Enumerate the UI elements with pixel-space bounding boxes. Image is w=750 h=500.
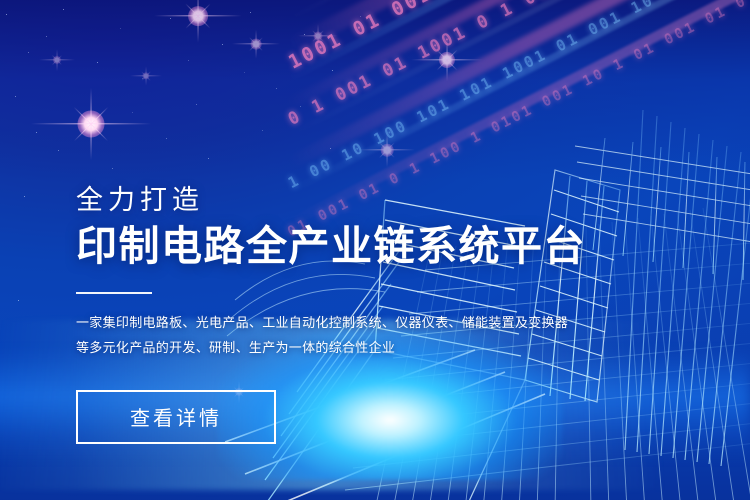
divider-rule (76, 292, 152, 294)
star-dot (208, 158, 209, 159)
hero-eyebrow: 全力打造 (76, 186, 596, 216)
star-dot (120, 28, 121, 29)
star-dot (46, 36, 47, 37)
star-dot (24, 196, 25, 197)
star-ray (197, 0, 198, 42)
hero-copy: 全力打造 印制电路全产业链系统平台 一家集印制电路板、光电产品、工业自动化控制系… (76, 186, 596, 444)
star-dot (6, 14, 7, 15)
star-dot (250, 12, 251, 13)
star-dot (28, 52, 29, 53)
star-dot (97, 62, 98, 63)
star-dot (15, 96, 16, 97)
star-flare (39, 42, 75, 78)
star-flare (130, 60, 162, 92)
hero-description: 一家集印制电路板、光电产品、工业自动化控制系统、仪器仪表、储能装置及变换器 等多… (76, 310, 596, 360)
view-details-button[interactable]: 查看详情 (76, 390, 276, 444)
hero-banner: 1 00 10 100 101 101 1001 01 001 10 1 00 … (0, 0, 750, 500)
star-dot (18, 300, 19, 301)
hero-headline: 印制电路全产业链系统平台 (76, 224, 596, 270)
hero-description-line-2: 等多元化产品的开发、研制、生产为一体的综合性企业 (76, 335, 596, 360)
hero-description-line-1: 一家集印制电路板、光电产品、工业自动化控制系统、仪器仪表、储能装置及变换器 (76, 310, 596, 335)
star-dot (188, 60, 189, 61)
star-dot (196, 104, 197, 105)
star-dot (166, 138, 167, 139)
star-dot (63, 9, 64, 10)
